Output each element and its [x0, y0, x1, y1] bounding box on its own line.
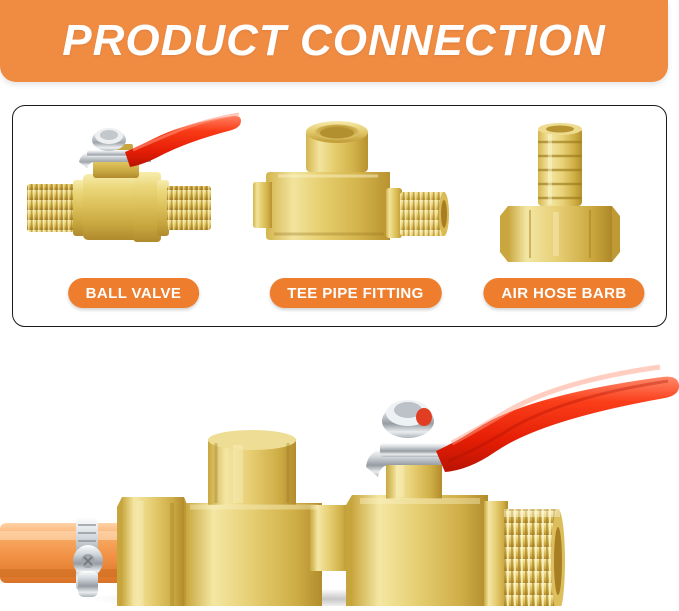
assembly-photo: [0, 355, 679, 606]
pill-air-hose-barb[interactable]: AIR HOSE BARB: [483, 278, 644, 308]
product-panel: BALL VALVE: [12, 105, 667, 327]
air-hose-barb-illustration: [468, 110, 660, 270]
tee-pipe-fitting: [186, 430, 350, 606]
product-cell-air-hose-barb: AIR HOSE BARB: [468, 106, 660, 326]
pill-tee-pipe-fitting[interactable]: TEE PIPE FITTING: [269, 278, 441, 308]
tee-pipe-fitting-image: [248, 110, 463, 270]
ball-valve-illustration: [21, 110, 246, 270]
pill-ball-valve[interactable]: BALL VALVE: [68, 278, 200, 308]
orange-air-hose: [0, 523, 128, 583]
pill-label-air-hose-barb: AIR HOSE BARB: [501, 285, 626, 302]
product-cell-tee-pipe-fitting: TEE PIPE FITTING: [248, 106, 463, 326]
product-cell-ball-valve: BALL VALVE: [21, 106, 246, 326]
assembly-illustration: [0, 355, 679, 606]
pill-label-tee-pipe-fitting: TEE PIPE FITTING: [287, 285, 423, 302]
header-banner: PRODUCT CONNECTION: [0, 0, 668, 82]
ball-valve-image: [21, 110, 246, 270]
pill-label-ball-valve: BALL VALVE: [86, 285, 182, 302]
red-lever-handle: [436, 367, 679, 472]
male-threaded-end: [504, 509, 565, 606]
tee-fitting-illustration: [248, 110, 463, 270]
air-hose-barb-image: [468, 110, 660, 270]
page-title: PRODUCT CONNECTION: [62, 16, 606, 66]
brass-hex-nut: [117, 497, 188, 606]
